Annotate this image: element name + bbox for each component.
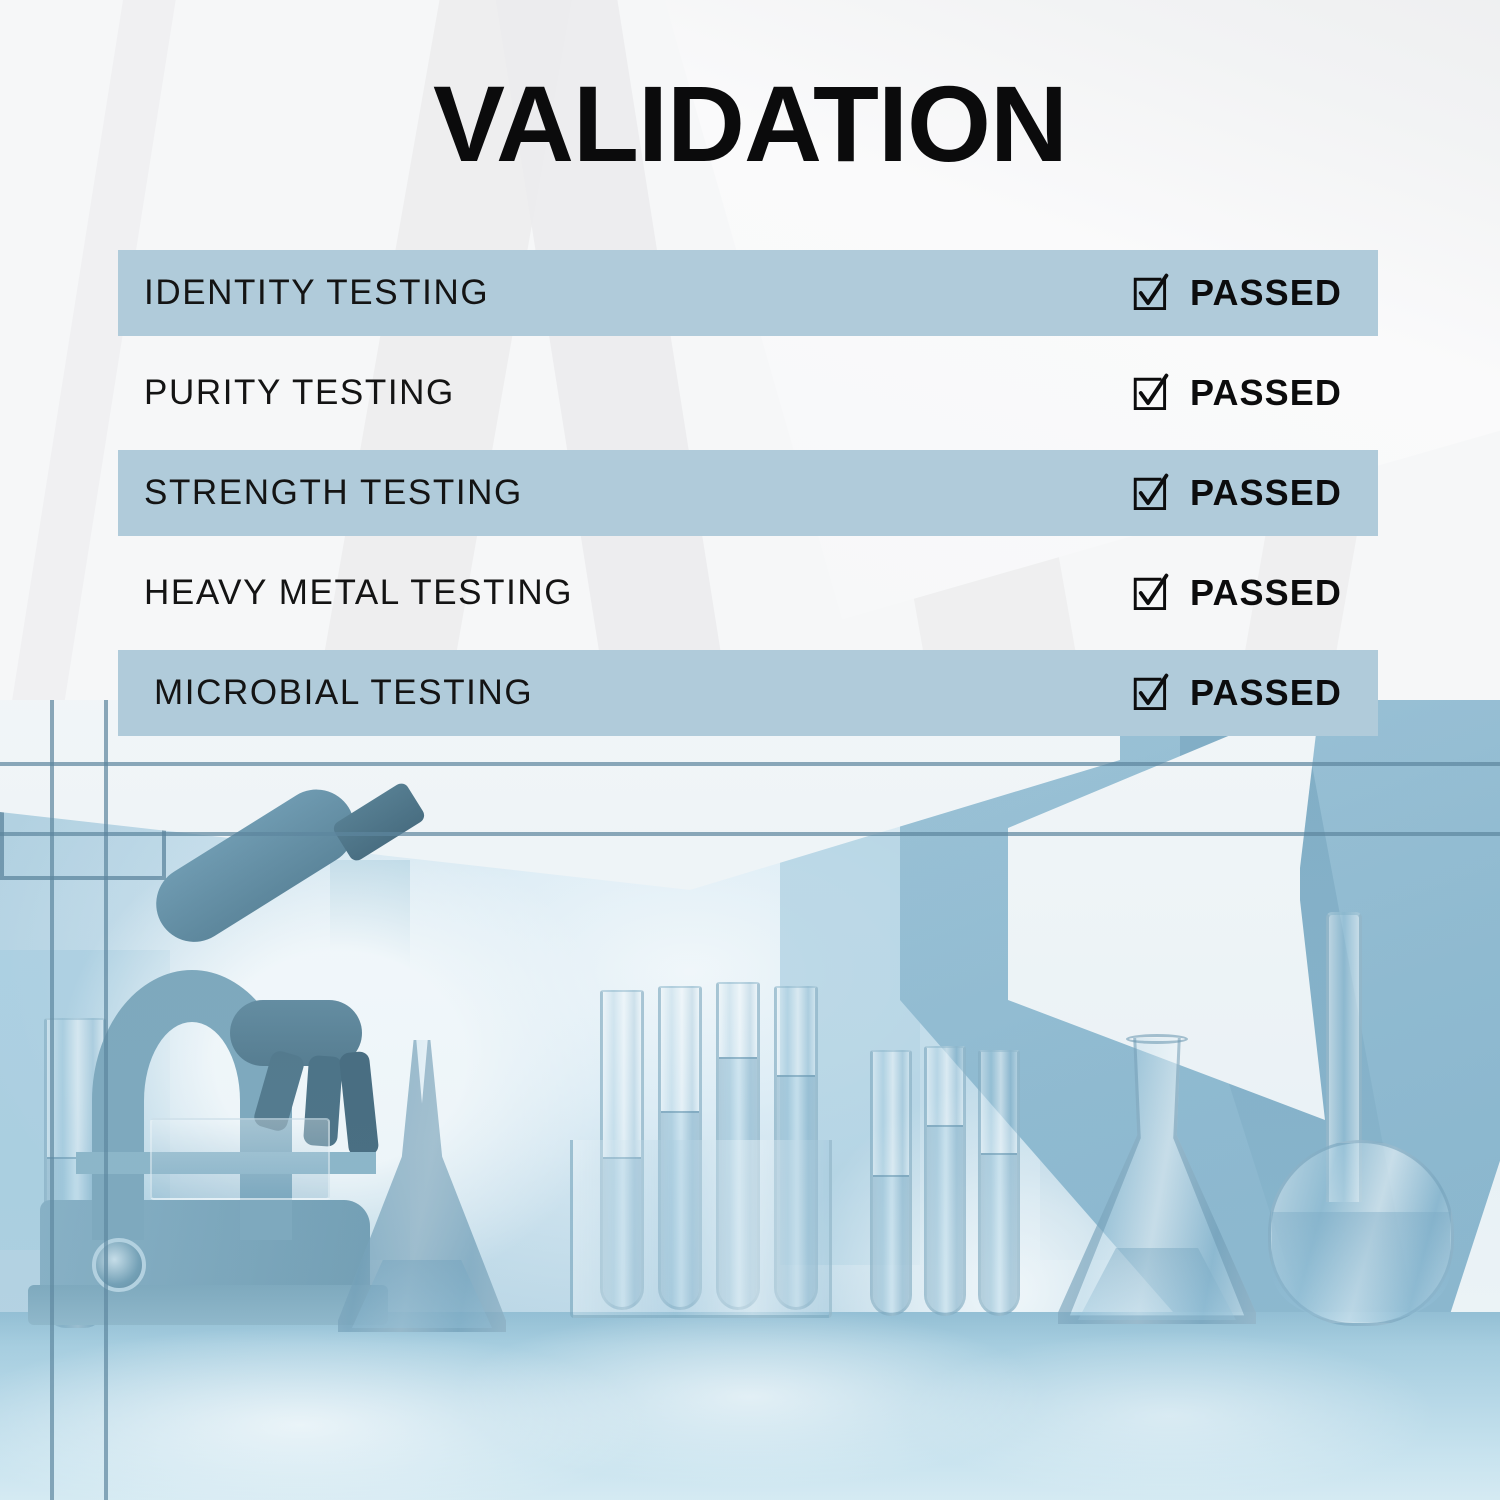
test-name-label: HEAVY METAL TESTING [118,573,573,613]
page-title: VALIDATION [0,70,1500,178]
table-row: MICROBIAL TESTING PASSED [118,650,1378,736]
status-badge: PASSED [1190,272,1342,314]
status-badge: PASSED [1190,672,1342,714]
checked-checkbox-icon [1127,671,1171,715]
microscope-focus-knob [92,1238,146,1292]
status-group: PASSED [1127,571,1342,615]
beaker [570,1140,832,1318]
status-group: PASSED [1127,671,1342,715]
checked-checkbox-icon [1127,371,1171,415]
microscope-slide-holder [150,1118,330,1200]
test-name-label: STRENGTH TESTING [118,473,523,513]
test-tube [978,1050,1020,1316]
row-spacer [0,336,1500,350]
validation-table: IDENTITY TESTING PASSED PURITY TESTING P… [0,250,1500,736]
table-row: IDENTITY TESTING PASSED [118,250,1378,336]
table-row: PURITY TESTING PASSED [118,350,1378,436]
checked-checkbox-icon [1127,471,1171,515]
test-name-label: MICROBIAL TESTING [118,673,533,713]
checked-checkbox-icon [1127,571,1171,615]
status-group: PASSED [1127,271,1342,315]
test-name-label: PURITY TESTING [118,373,455,413]
test-tube [870,1050,912,1316]
status-badge: PASSED [1190,472,1342,514]
row-spacer [0,536,1500,550]
bench-reflection [0,1312,1500,1500]
page-canvas: VALIDATION IDENTITY TESTING PASSED PURIT… [0,0,1500,1500]
status-badge: PASSED [1190,372,1342,414]
status-badge: PASSED [1190,572,1342,614]
table-row: STRENGTH TESTING PASSED [118,450,1378,536]
table-row: HEAVY METAL TESTING PASSED [118,550,1378,636]
row-spacer [0,436,1500,450]
microscope-foot [28,1285,388,1325]
test-tube [924,1046,966,1316]
status-group: PASSED [1127,471,1342,515]
checked-checkbox-icon [1127,271,1171,315]
row-spacer [0,636,1500,650]
status-group: PASSED [1127,371,1342,415]
lab-photo [0,700,1500,1500]
erlenmeyer-flask-neck-rim [1126,1034,1188,1044]
test-name-label: IDENTITY TESTING [118,273,489,313]
volumetric-flask-liquid [1272,1212,1450,1322]
